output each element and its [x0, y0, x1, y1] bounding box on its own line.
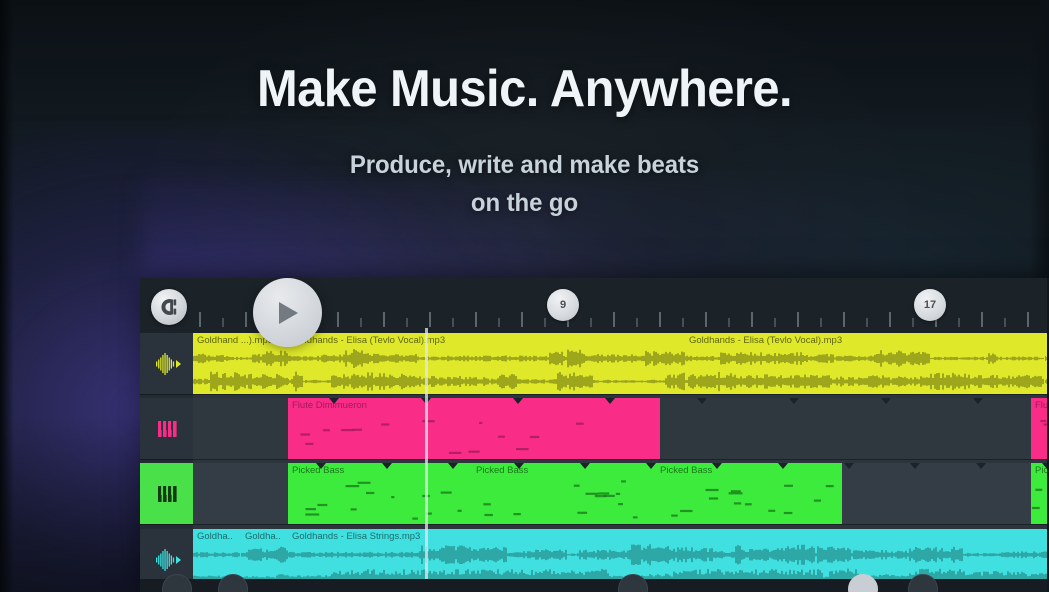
- timeline-lane-2[interactable]: Flute DimimueronFlu: [193, 398, 1049, 460]
- hero-section: Make Music. Anywhere. Produce, write and…: [0, 62, 1049, 222]
- clip-handle-notch: [646, 463, 656, 469]
- ruler-tick: [1027, 312, 1029, 327]
- piano-keys-icon: [152, 481, 182, 507]
- clip-handle-notch: [910, 463, 920, 469]
- ruler-tick: [728, 318, 730, 327]
- clip-notes: [472, 477, 656, 522]
- subtitle-line-2: on the go: [21, 184, 1028, 222]
- ruler-tick: [912, 318, 914, 327]
- clip-label: Goldhands - Elisa Strings.mp3: [292, 531, 420, 542]
- clip-waveform: [685, 347, 1045, 392]
- clip-handle-notch: [789, 398, 799, 404]
- ruler-tick: [360, 318, 362, 327]
- ruler-tick: [705, 312, 707, 327]
- clip-label: Goldha..: [197, 531, 233, 542]
- ruler-tick: [981, 312, 983, 327]
- clip[interactable]: Picked Bass: [656, 463, 842, 524]
- ruler-tick: [797, 312, 799, 327]
- track-header-1[interactable]: [140, 333, 193, 395]
- clip-handle-notch: [448, 463, 458, 469]
- track-header-3[interactable]: [140, 463, 193, 525]
- play-triangle-icon: [275, 299, 301, 327]
- timeline-lane-1[interactable]: Goldhand ...).mp3Goldhands - Elisa (Tevl…: [193, 333, 1049, 395]
- clip-handle-notch: [605, 398, 615, 404]
- clip-label: Goldha..: [245, 531, 281, 542]
- bottom-toolbar: [140, 579, 1049, 592]
- clip[interactable]: Goldhands - Elisa (Tevlo Vocal).mp3: [288, 333, 685, 394]
- ruler-tick: [659, 312, 661, 327]
- clip-handle-notch: [382, 463, 392, 469]
- subtitle-line-1: Produce, write and make beats: [350, 151, 699, 179]
- clip[interactable]: Flute Dimimueron: [288, 398, 660, 459]
- ruler-tick: [636, 318, 638, 327]
- clip-handle-notch: [973, 398, 983, 404]
- ruler-tick: [751, 312, 753, 327]
- ruler-tick: [383, 312, 385, 327]
- clip-label: Goldhands - Elisa (Tevlo Vocal).mp3: [292, 335, 445, 346]
- clip-waveform: [288, 347, 685, 392]
- ruler-tick: [843, 312, 845, 327]
- ruler-tick: [452, 318, 454, 327]
- ruler-tick: [613, 312, 615, 327]
- ruler-tick: [429, 312, 431, 327]
- clip-label: Goldhands - Elisa (Tevlo Vocal).mp3: [689, 335, 842, 346]
- ruler-tick: [820, 318, 822, 327]
- playhead[interactable]: [425, 328, 428, 592]
- clip-handle-notch: [697, 398, 707, 404]
- ruler-tick: [199, 312, 201, 327]
- ruler-tick: [498, 318, 500, 327]
- ruler-tick: [475, 312, 477, 327]
- clip-handle-notch: [514, 463, 524, 469]
- ruler-tick: [337, 312, 339, 327]
- clip-handle-notch: [580, 463, 590, 469]
- clip-notes: [288, 477, 472, 522]
- piano-keys-icon: [152, 416, 182, 442]
- ruler-tick: [406, 318, 408, 327]
- clip-handle-notch: [778, 463, 788, 469]
- clip-label: Picked Bass: [660, 465, 712, 476]
- timeline-lanes[interactable]: Goldhand ...).mp3Goldhands - Elisa (Tevl…: [193, 333, 1049, 592]
- waveform-icon: [152, 547, 182, 573]
- timeline-lane-3[interactable]: Picked BassPicked BassPicked BassPicked …: [193, 463, 1049, 525]
- clip-handle-notch: [881, 398, 891, 404]
- bar-marker[interactable]: 9: [547, 289, 579, 321]
- clip-waveform: [193, 347, 288, 392]
- bar-marker[interactable]: 17: [914, 289, 946, 321]
- waveform-icon: [152, 351, 182, 377]
- clip[interactable]: Picked Bass: [472, 463, 656, 524]
- play-button[interactable]: [253, 278, 322, 347]
- clip[interactable]: Goldhands - Elisa (Tevlo Vocal).mp3: [685, 333, 1045, 394]
- clip-handle-notch: [329, 398, 339, 404]
- ruler-tick: [590, 318, 592, 327]
- ruler-tick: [521, 312, 523, 327]
- ruler-tick: [774, 318, 776, 327]
- ruler-tick: [544, 318, 546, 327]
- clip-notes: [656, 477, 842, 522]
- clip-handle-notch: [712, 463, 722, 469]
- clip-handle-notch: [976, 463, 986, 469]
- track-header-column: [140, 333, 193, 592]
- ruler-tick: [245, 312, 247, 327]
- track-header-2[interactable]: [140, 398, 193, 460]
- ruler-tick: [866, 318, 868, 327]
- app-logo-icon[interactable]: [151, 289, 187, 325]
- clip-notes: [288, 412, 660, 457]
- ruler-tick: [958, 318, 960, 327]
- clip-label: Goldhand ...).mp3: [197, 335, 273, 346]
- ruler-tick: [889, 312, 891, 327]
- ruler-tick: [222, 318, 224, 327]
- clip-handle-notch: [513, 398, 523, 404]
- clip[interactable]: Picked Bass: [288, 463, 472, 524]
- clip-handle-notch: [844, 463, 854, 469]
- clip-handle-notch: [316, 463, 326, 469]
- page-title: Make Music. Anywhere.: [31, 62, 1017, 117]
- ruler-tick: [1004, 318, 1006, 327]
- ruler-tick: [682, 318, 684, 327]
- page-subtitle: Produce, write and make beats on the go: [21, 146, 1028, 222]
